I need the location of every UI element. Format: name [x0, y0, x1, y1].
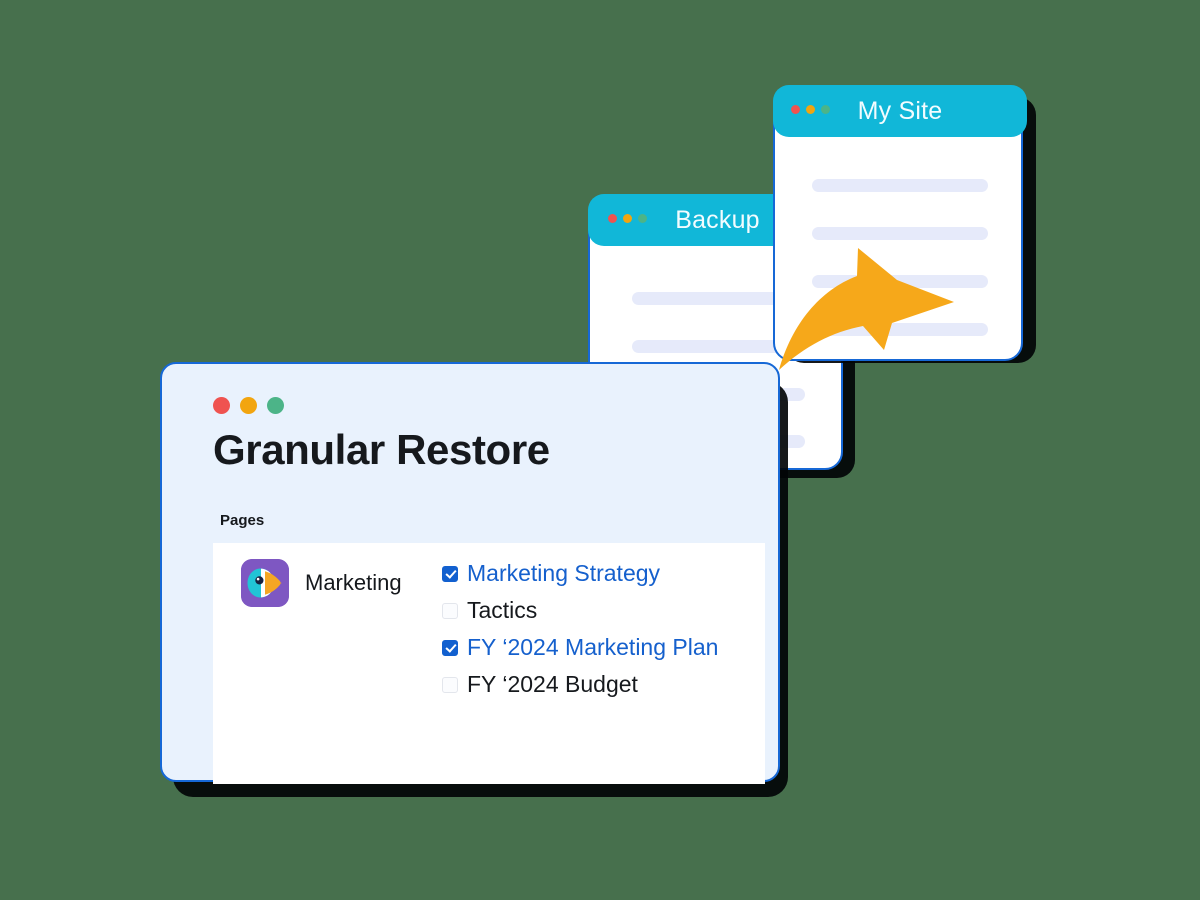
close-dot-icon[interactable] — [791, 105, 800, 114]
page-checkbox[interactable] — [442, 603, 458, 619]
mysite-traffic-lights[interactable] — [791, 105, 830, 114]
pages-section-label: Pages — [220, 512, 264, 529]
close-dot-icon[interactable] — [213, 397, 230, 414]
minimize-dot-icon[interactable] — [240, 397, 257, 414]
placeholder-line — [812, 275, 988, 288]
page-title: Granular Restore — [213, 426, 550, 474]
mysite-window-title: My Site — [858, 99, 943, 124]
page-checkbox[interactable] — [442, 640, 458, 656]
page-label: Marketing Strategy — [467, 562, 660, 585]
granular-restore-window[interactable]: Granular Restore Pages Marketing — [160, 362, 780, 782]
main-traffic-lights[interactable] — [213, 397, 284, 414]
page-label: FY ‘2024 Budget — [467, 673, 638, 696]
mysite-titlebar: My Site — [773, 85, 1027, 137]
list-item[interactable]: FY ‘2024 Marketing Plan — [442, 629, 718, 666]
page-label: Tactics — [467, 599, 537, 622]
page-checkbox[interactable] — [442, 677, 458, 693]
list-item[interactable]: Marketing Strategy — [442, 555, 718, 592]
space-row[interactable]: Marketing — [241, 559, 402, 607]
mysite-window[interactable]: My Site — [773, 85, 1023, 361]
list-item[interactable]: FY ‘2024 Budget — [442, 666, 718, 703]
list-item[interactable]: Tactics — [442, 592, 718, 629]
backup-window-title: Backup — [675, 208, 760, 233]
pages-checkbox-list: Marketing Strategy Tactics FY ‘2024 Mark… — [442, 555, 718, 703]
placeholder-line — [812, 179, 988, 192]
page-label: FY ‘2024 Marketing Plan — [467, 636, 718, 659]
minimize-dot-icon[interactable] — [806, 105, 815, 114]
close-dot-icon[interactable] — [608, 214, 617, 223]
pages-card: Marketing Marketing Strategy Tactics FY … — [213, 543, 765, 784]
parrot-app-icon — [241, 559, 289, 607]
maximize-dot-icon[interactable] — [821, 105, 830, 114]
maximize-dot-icon[interactable] — [267, 397, 284, 414]
maximize-dot-icon[interactable] — [638, 214, 647, 223]
placeholder-line — [812, 227, 988, 240]
space-name-label: Marketing — [305, 570, 402, 596]
illustration-canvas: Backup My Site — [0, 0, 1200, 900]
page-checkbox[interactable] — [442, 566, 458, 582]
minimize-dot-icon[interactable] — [623, 214, 632, 223]
backup-traffic-lights[interactable] — [608, 214, 647, 223]
placeholder-line — [812, 323, 988, 336]
